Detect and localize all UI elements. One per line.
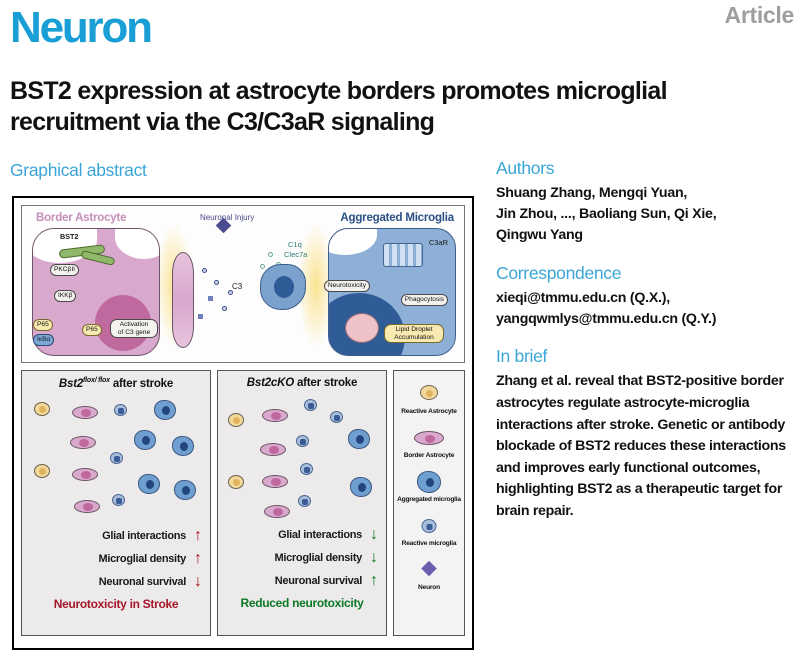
aggregated-microglia-caption: Aggregated Microglia <box>340 212 454 224</box>
reactive-microglia-icon <box>330 411 343 423</box>
reactive-microglia-icon <box>296 435 309 447</box>
lipid-droplet-icon <box>345 313 379 343</box>
aggregated-microglia-icon <box>134 430 156 450</box>
legend-item: Reactive microglia <box>394 509 464 547</box>
in-brief-text: Zhang et al. reveal that BST2-positive b… <box>496 371 796 522</box>
c3-label: C3 <box>232 282 242 291</box>
neuron-icon <box>394 553 464 583</box>
panel-bl-cell-field <box>26 392 206 524</box>
author-line: Jin Zhou, ..., Baoliang Sun, Qi Xie, <box>496 204 796 225</box>
legend-item: Border Astrocyte <box>394 421 464 459</box>
panel-bl-title-rest: after stroke <box>113 378 173 390</box>
border-astrocyte-caption: Border Astrocyte <box>36 212 126 224</box>
reactive-astrocyte-icon <box>228 475 244 489</box>
legend-item: Neuron <box>394 553 464 591</box>
panel-bl-verdict: Neurotoxicity in Stroke <box>22 597 210 611</box>
arrow-up-icon: ↑ <box>370 573 378 589</box>
reactive-microglia-icon <box>394 509 464 539</box>
legend-label: Aggregated microglia <box>394 496 464 503</box>
border-astrocyte-icon <box>260 443 286 456</box>
arrow-up-icon: ↑ <box>194 551 202 567</box>
c1q-label: C1q <box>288 240 302 249</box>
article-type-label: Article <box>725 2 794 29</box>
arrow-up-icon: ↑ <box>194 528 202 544</box>
border-astrocyte-icon <box>264 505 290 518</box>
phagocytosis-label: Phagocytosis <box>401 294 448 306</box>
panel-signaling-overview: BST2 PKCβII IKKβ P65 IκBα P65 Activation… <box>21 205 465 363</box>
arrow-down-icon: ↓ <box>370 550 378 566</box>
reactive-microglia-icon <box>298 495 311 507</box>
stat-row: Microglial density ↓ <box>226 550 378 566</box>
author-line: Qingwu Yang <box>496 225 796 246</box>
reactive-astrocyte-icon <box>228 413 244 427</box>
reactive-microglia-icon <box>114 404 127 416</box>
reactive-astrocyte-icon <box>34 464 50 478</box>
clec7a-label: Clec7a <box>284 250 307 259</box>
stat-row: Neuronal survival ↓ <box>30 574 202 590</box>
panel-br-gene: Bst2cKO <box>247 377 294 389</box>
in-brief-heading: In brief <box>496 346 796 367</box>
stat-label: Neuronal survival <box>99 576 186 588</box>
correspondence-block: Correspondence xieqi@tmmu.edu.cn (Q.X.),… <box>496 263 796 330</box>
border-astrocyte-icon <box>72 406 98 419</box>
p65-nuclear-label: P65 <box>82 324 102 336</box>
author-line: Shuang Zhang, Mengqi Yuan, <box>496 183 796 204</box>
c3-dot-icon <box>208 296 213 301</box>
aggregated-microglia-icon <box>174 480 196 500</box>
panel-bl-title: Bst2flox/ flox after stroke <box>22 371 210 390</box>
stat-label: Neuronal survival <box>275 575 362 587</box>
panel-bst2-flox-after-stroke: Bst2flox/ flox after stroke <box>21 370 211 636</box>
panel-bst2ck0-after-stroke: Bst2cKO after stroke <box>217 370 387 636</box>
reactive-astrocyte-icon <box>34 402 50 416</box>
stat-row: Glial interactions ↑ <box>30 528 202 544</box>
page-title: BST2 expression at astrocyte borders pro… <box>10 76 780 138</box>
arrow-down-icon: ↓ <box>370 527 378 543</box>
legend-label: Neuron <box>394 584 464 591</box>
reactive-microglia-icon <box>110 452 123 464</box>
reactive-astrocyte-icon <box>394 377 464 407</box>
aggregated-microglia-icon <box>172 436 194 456</box>
stat-label: Glial interactions <box>278 529 362 541</box>
correspondence-heading: Correspondence <box>496 263 796 284</box>
stat-label: Microglial density <box>98 553 186 565</box>
complement-dot-icon <box>260 264 265 269</box>
stat-label: Glial interactions <box>102 530 186 542</box>
complement-dot-icon <box>268 252 273 257</box>
aggregated-microglia-icon <box>350 477 372 497</box>
graphical-abstract-figure: BST2 PKCβII IKKβ P65 IκBα P65 Activation… <box>12 196 474 650</box>
in-brief-block: In brief Zhang et al. reveal that BST2-p… <box>496 346 796 522</box>
c3-gene-activation-label: Activationof C3 gene <box>110 319 158 338</box>
c3-dot-icon <box>202 268 207 273</box>
aggregated-microglia-icon <box>348 429 370 449</box>
pkc-label: PKCβII <box>50 264 79 276</box>
stat-row: Microglial density ↑ <box>30 551 202 567</box>
panel-bl-stats: Glial interactions ↑ Microglial density … <box>22 528 210 590</box>
ikk-label: IKKβ <box>54 290 76 302</box>
authors-block: Authors Shuang Zhang, Mengqi Yuan, Jin Z… <box>496 158 796 246</box>
authors-list: Shuang Zhang, Mengqi Yuan, Jin Zhou, ...… <box>496 183 796 246</box>
legend-label: Reactive Astrocyte <box>394 408 464 415</box>
c3ar-receptor-label: C3aR <box>429 238 448 247</box>
graphical-abstract-heading: Graphical abstract <box>10 160 147 181</box>
panel-br-verdict: Reduced neurotoxicity <box>218 596 386 610</box>
border-astrocyte-icon <box>262 409 288 422</box>
aggregated-microglia-icon <box>154 400 176 420</box>
reactive-microglia-nucleus-icon <box>274 276 294 298</box>
stat-label: Microglial density <box>274 552 362 564</box>
panel-bl-gene: Bst2 <box>59 378 83 390</box>
ikba-label: IκBα <box>33 334 54 346</box>
border-astrocyte-icon <box>394 421 464 451</box>
lipid-droplet-accumulation-label: Lipid DropletAccumulation <box>384 324 444 343</box>
reactive-microglia-icon <box>300 463 313 475</box>
bst2-label: BST2 <box>60 232 78 241</box>
panel-br-title-rest: after stroke <box>297 377 357 389</box>
border-astrocyte-icon <box>70 436 96 449</box>
reactive-microglia-icon <box>112 494 125 506</box>
neurotoxicity-label: Neurotoxicity <box>324 280 370 292</box>
correspondence-list: xieqi@tmmu.edu.cn (Q.X.), yangqwmlys@tmm… <box>496 288 796 330</box>
article-cover-page: Article Neuron BST2 expression at astroc… <box>0 0 804 660</box>
arrow-down-icon: ↓ <box>194 574 202 590</box>
p65-cytoplasmic-label: P65 <box>33 319 53 331</box>
reactive-microglia-icon <box>304 399 317 411</box>
figure-legend: Reactive Astrocyte Border Astrocyte Aggr… <box>393 370 465 636</box>
c3ar-receptor-icon <box>383 243 423 267</box>
legend-item: Reactive Astrocyte <box>394 377 464 415</box>
bottom-panels-row: Bst2flox/ flox after stroke <box>21 370 465 636</box>
authors-heading: Authors <box>496 158 796 179</box>
legend-label: Border Astrocyte <box>394 452 464 459</box>
top-panel-artwork: BST2 PKCβII IKKβ P65 IκBα P65 Activation… <box>22 206 464 362</box>
stat-row: Glial interactions ↓ <box>226 527 378 543</box>
border-astrocyte-process-icon <box>172 252 194 348</box>
border-astrocyte-icon <box>262 475 288 488</box>
panel-br-cell-field <box>222 391 382 523</box>
legend-label: Reactive microglia <box>394 540 464 547</box>
c3-dot-icon <box>198 314 203 319</box>
panel-bl-sup: flox/ flox <box>83 377 110 384</box>
correspondence-email[interactable]: xieqi@tmmu.edu.cn (Q.X.), <box>496 288 796 309</box>
stat-row: Neuronal survival ↑ <box>226 573 378 589</box>
border-astrocyte-icon <box>74 500 100 513</box>
aggregated-microglia-icon <box>138 474 160 494</box>
border-astrocyte-icon <box>72 468 98 481</box>
journal-logo: Neuron <box>10 6 151 50</box>
panel-br-stats: Glial interactions ↓ Microglial density … <box>218 527 386 589</box>
panel-br-title: Bst2cKO after stroke <box>218 371 386 389</box>
legend-item: Aggregated microglia <box>394 465 464 503</box>
c3-dot-icon <box>214 280 219 285</box>
aggregated-microglia-icon <box>394 465 464 495</box>
c3-dot-icon <box>222 306 227 311</box>
correspondence-email[interactable]: yangqwmlys@tmmu.edu.cn (Q.Y.) <box>496 309 796 330</box>
metadata-column: Authors Shuang Zhang, Mengqi Yuan, Jin Z… <box>496 158 796 522</box>
